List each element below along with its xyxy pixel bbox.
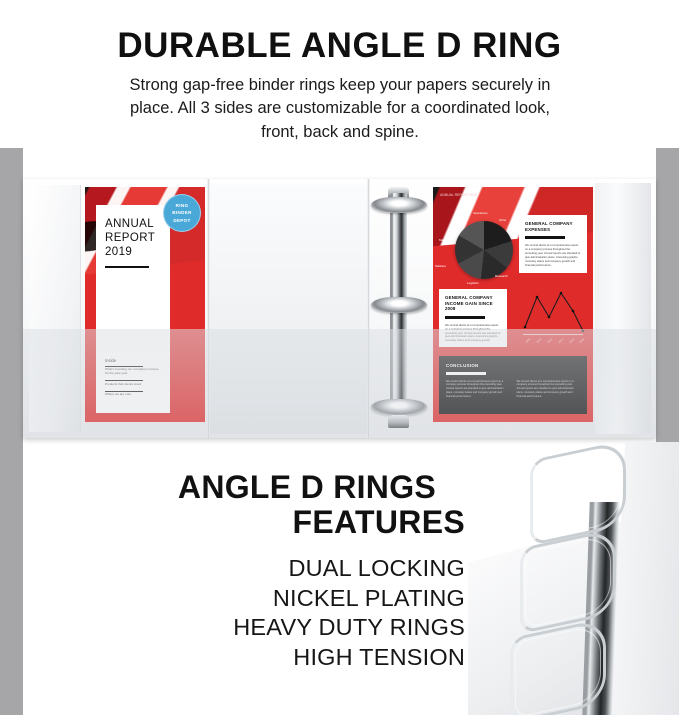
pie-label: Marketing <box>439 239 452 243</box>
features-title-line2: FEATURES <box>149 505 465 540</box>
panel-seam-left <box>207 179 210 438</box>
ring-binder-depot-badge: RING BINDER DEPOT <box>163 194 201 232</box>
badge-line-2: BINDER <box>172 209 191 216</box>
income-text-box: GENERAL COMPANY INCOME GAIN SINCE 2008 W… <box>439 289 507 347</box>
expenses-heading: GENERAL COMPANY EXPENSES <box>525 221 581 232</box>
annual-report-card: ANNUAL REPORT 2019 Inside What's boostin… <box>96 205 170 413</box>
expenses-pie-chart <box>455 221 513 279</box>
pie-label: Research <box>495 275 508 279</box>
gray-bar-left <box>0 148 23 715</box>
three-ring-mechanism <box>370 179 428 438</box>
pie-label: Other <box>499 219 507 223</box>
inside-item-text: What's boosting our company's income for… <box>105 368 163 376</box>
conclusion-heading: CONCLUSION <box>446 363 580 368</box>
feature-item: NICKEL PLATING <box>149 584 465 614</box>
line-chart-svg <box>515 283 587 345</box>
annual-report-left-page: ANNUAL REPORT 2019 Inside What's boostin… <box>85 187 205 422</box>
page-headline: DURABLE ANGLE D RING <box>0 28 679 63</box>
features-title: ANGLE D RINGS FEATURES <box>149 470 465 539</box>
annual-report-right-page: ANNUAL REPORT 2019 Operations Marketing … <box>433 187 593 422</box>
list-item: What's boosting our company's income for… <box>105 366 163 376</box>
badge-line-1: RING <box>176 202 189 209</box>
report-title-line1: ANNUAL <box>105 217 161 231</box>
product-marketing-image: DURABLE ANGLE D RING Strong gap-free bin… <box>0 0 679 715</box>
heading-rule <box>445 316 485 319</box>
binder-clear-spine-panel <box>209 183 369 434</box>
pie-label: Logistics <box>467 282 479 286</box>
inside-item-text: Where we are now <box>105 393 163 397</box>
inside-contents-list: Inside What's boosting our company's inc… <box>105 358 163 401</box>
page-subcopy: Strong gap-free binder rings keep your p… <box>110 74 570 144</box>
ring-2 <box>371 297 427 313</box>
ring-1 <box>371 197 427 213</box>
expenses-text-box: GENERAL COMPANY EXPENSES We remind clien… <box>519 215 587 273</box>
feature-item: HIGH TENSION <box>149 643 465 673</box>
conclusion-column-2: We remind clients of a comprehensive rep… <box>517 380 581 399</box>
chart-axis-line <box>523 334 583 335</box>
heading-rule <box>446 372 486 375</box>
ring-lock-bottom <box>388 415 409 428</box>
report-title-line2: REPORT <box>105 231 161 245</box>
feature-item: DUAL LOCKING <box>149 554 465 584</box>
conclusion-column-1: We remind clients of a comprehensive rep… <box>446 380 510 399</box>
income-heading: GENERAL COMPANY INCOME GAIN SINCE 2008 <box>445 295 501 312</box>
inside-item-text: Products that clients loved <box>105 383 163 387</box>
conclusion-block: CONCLUSION We remind clients of a compre… <box>439 356 587 414</box>
binder-inside-pocket <box>29 185 81 432</box>
badge-line-3: DEPOT <box>173 217 190 224</box>
heading-rule <box>525 236 565 239</box>
right-page-top-label: ANNUAL REPORT 2019 <box>440 193 477 197</box>
pie-label: Salaries <box>435 265 446 269</box>
pie-label: Operations <box>473 212 488 216</box>
list-item: Products that clients loved <box>105 380 163 386</box>
open-binder-photo: ANNUAL REPORT 2019 Inside What's boostin… <box>23 179 656 438</box>
features-list: DUAL LOCKING NICKEL PLATING HEAVY DUTY R… <box>149 554 465 672</box>
expenses-body: We remind clients of a comprehensive rep… <box>525 244 581 267</box>
features-title-line1: ANGLE D RINGS <box>178 469 436 505</box>
income-body: We remind clients of a comprehensive rep… <box>445 324 501 344</box>
d-ring-closeup-photo <box>468 442 679 715</box>
feature-item: HEAVY DUTY RINGS <box>149 613 465 643</box>
list-item: Where we are now <box>105 391 163 397</box>
income-line-chart: 2008 2010 2012 2014 2016 2018 <box>515 283 587 345</box>
binder-right-cover-edge <box>595 183 651 434</box>
report-title-line3: 2019 <box>105 245 161 259</box>
ring-3 <box>371 399 427 415</box>
title-rule <box>105 266 149 268</box>
inside-label: Inside <box>105 358 163 363</box>
